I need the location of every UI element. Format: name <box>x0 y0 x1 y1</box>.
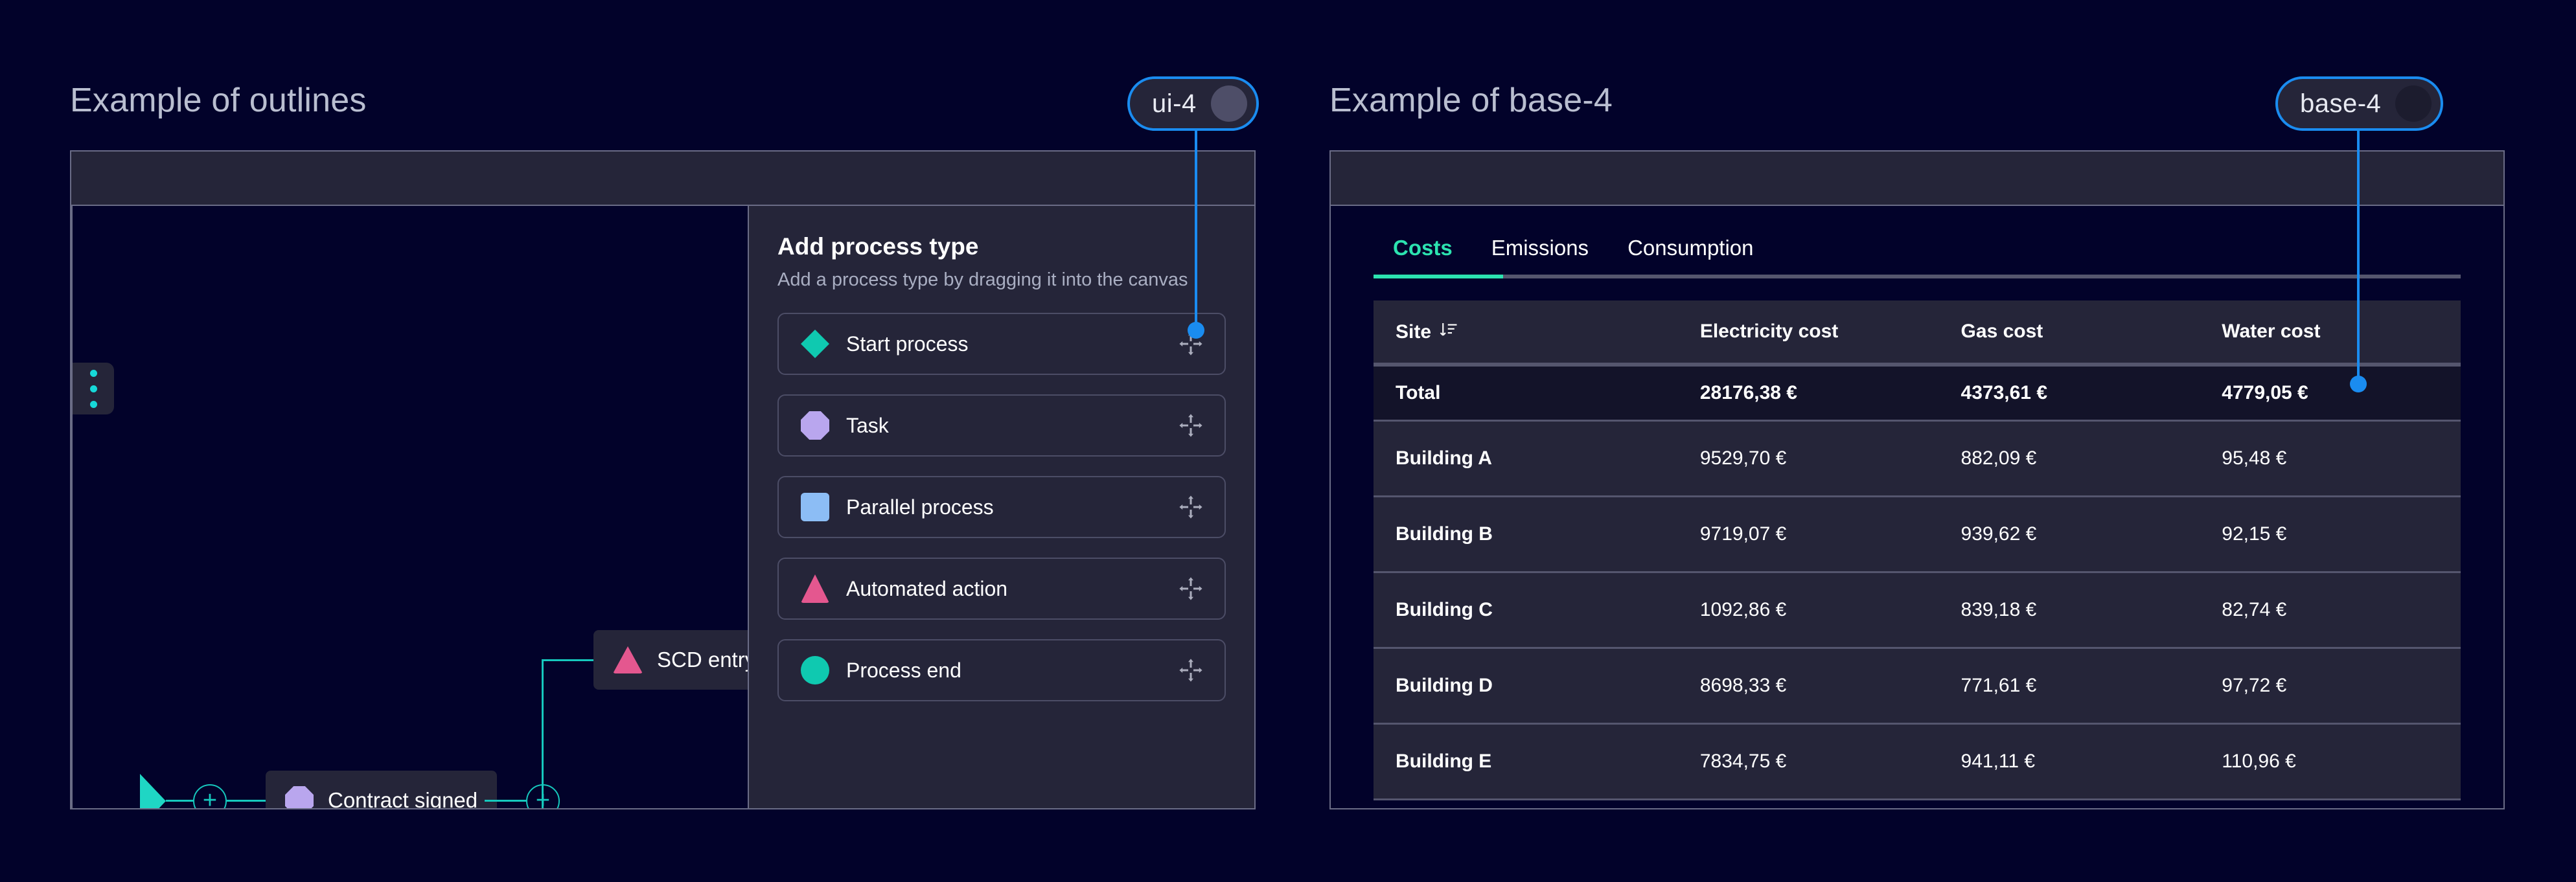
process-type-parallel-process[interactable]: Parallel process <box>777 476 1226 538</box>
octagon-icon <box>801 411 829 440</box>
cell-electricity-cost: 9529,70 € <box>1678 421 1939 497</box>
process-type-label: Start process <box>846 332 1158 356</box>
flow-node-label: Contract signed <box>328 788 477 808</box>
cell-water-cost: 92,15 € <box>2200 497 2461 572</box>
cell-site: Building E <box>1374 724 1678 800</box>
left-section-title: Example of outlines <box>70 81 367 120</box>
total-water-cost: 4779,05 € <box>2200 365 2461 421</box>
base4-panel: Costs Emissions Consumption Site Electri… <box>1329 150 2505 809</box>
triangle-icon <box>613 646 643 673</box>
table-row[interactable]: Building E 7834,75 € 941,11 € 110,96 € <box>1374 724 2461 800</box>
tab-costs[interactable]: Costs <box>1374 236 1472 275</box>
cell-gas-cost: 941,11 € <box>1939 724 2200 800</box>
column-header-site[interactable]: Site <box>1374 300 1678 365</box>
flow-node-label: SCD entry created <box>657 648 748 672</box>
process-type-process-end[interactable]: Process end <box>777 639 1226 701</box>
octagon-icon <box>285 786 314 808</box>
process-type-label: Task <box>846 414 1158 438</box>
annotation-pill-ui4[interactable]: ui-4 <box>1127 76 1259 131</box>
annotation-connector-ui4 <box>1195 130 1197 332</box>
cell-gas-cost: 882,09 € <box>1939 421 2200 497</box>
process-type-start-process[interactable]: Start process <box>777 313 1226 375</box>
table-row[interactable]: Building C 1092,86 € 839,18 € 82,74 € <box>1374 572 2461 648</box>
sidebar-subtitle: Add a process type by dragging it into t… <box>777 269 1226 291</box>
cell-electricity-cost: 1092,86 € <box>1678 572 1939 648</box>
cell-electricity-cost: 9719,07 € <box>1678 497 1939 572</box>
triangle-icon <box>801 574 829 603</box>
annotation-endpoint-base4 <box>2350 376 2367 392</box>
flow-connector <box>166 800 193 802</box>
flow-branch-vertical <box>542 659 544 808</box>
tab-bar: Costs Emissions Consumption <box>1331 206 2503 275</box>
more-vertical-icon[interactable] <box>73 363 114 414</box>
user-avatar-icon <box>2395 85 2432 122</box>
column-header-electricity-cost[interactable]: Electricity cost <box>1678 300 1939 365</box>
process-canvas[interactable]: + Contract signed + <box>71 206 748 808</box>
outlines-panel: + Contract signed + <box>70 150 1256 809</box>
diamond-icon <box>801 330 829 358</box>
total-gas-cost: 4373,61 € <box>1939 365 2200 421</box>
cell-electricity-cost: 7834,75 € <box>1678 724 1939 800</box>
process-type-label: Automated action <box>846 577 1158 601</box>
column-header-water-cost[interactable]: Water cost <box>2200 300 2461 365</box>
table-row[interactable]: Building A 9529,70 € 882,09 € 95,48 € <box>1374 421 2461 497</box>
start-arrow-icon <box>140 774 166 808</box>
move-icon[interactable] <box>1175 410 1206 441</box>
flow-connector <box>227 800 266 802</box>
process-type-automated-action[interactable]: Automated action <box>777 558 1226 620</box>
sidebar-title: Add process type <box>777 233 1226 260</box>
right-panel-body: Costs Emissions Consumption Site Electri… <box>1331 206 2503 808</box>
cell-water-cost: 110,96 € <box>2200 724 2461 800</box>
process-type-label: Process end <box>846 659 1158 683</box>
sort-descending-icon[interactable] <box>1439 320 1458 339</box>
table-row[interactable]: Building B 9719,07 € 939,62 € 92,15 € <box>1374 497 2461 572</box>
table-row-total: Total 28176,38 € 4373,61 € 4779,05 € <box>1374 365 2461 421</box>
left-panel-body: + Contract signed + <box>71 206 1254 808</box>
tab-underline <box>1374 275 2461 278</box>
square-icon <box>801 493 829 521</box>
total-electricity-cost: 28176,38 € <box>1678 365 1939 421</box>
cell-gas-cost: 939,62 € <box>1939 497 2200 572</box>
tab-emissions[interactable]: Emissions <box>1472 236 1608 275</box>
process-type-task[interactable]: Task <box>777 394 1226 457</box>
move-icon[interactable] <box>1175 573 1206 604</box>
annotation-connector-base4 <box>2357 130 2360 389</box>
cell-gas-cost: 839,18 € <box>1939 572 2200 648</box>
flow-connector <box>542 659 593 661</box>
add-process-type-sidebar: Add process type Add a process type by d… <box>748 206 1254 808</box>
costs-table: Site Electricity cost Gas cost Water cos… <box>1374 300 2461 800</box>
cell-gas-cost: 771,61 € <box>1939 648 2200 724</box>
move-icon[interactable] <box>1175 492 1206 523</box>
cell-site: Building D <box>1374 648 1678 724</box>
user-avatar-icon <box>1211 85 1247 122</box>
canvas-left-rail <box>71 206 73 808</box>
right-section-title: Example of base-4 <box>1329 81 1613 120</box>
flow-node-contract-signed[interactable]: Contract signed <box>266 771 497 808</box>
annotation-endpoint-ui4 <box>1188 322 1204 339</box>
tab-consumption[interactable]: Consumption <box>1608 236 1773 275</box>
table-header-row: Site Electricity cost Gas cost Water cos… <box>1374 300 2461 365</box>
cell-water-cost: 97,72 € <box>2200 648 2461 724</box>
table-row[interactable]: Building D 8698,33 € 771,61 € 97,72 € <box>1374 648 2461 724</box>
annotation-label: ui-4 <box>1152 89 1197 119</box>
left-panel-topbar <box>71 152 1254 206</box>
cell-electricity-cost: 8698,33 € <box>1678 648 1939 724</box>
cell-water-cost: 95,48 € <box>2200 421 2461 497</box>
cell-site: Building A <box>1374 421 1678 497</box>
right-panel-topbar <box>1331 152 2503 206</box>
cell-site: Building C <box>1374 572 1678 648</box>
total-label: Total <box>1374 365 1678 421</box>
add-node-button-1[interactable]: + <box>193 784 227 808</box>
column-header-gas-cost[interactable]: Gas cost <box>1939 300 2200 365</box>
flow-node-scd-entry-created[interactable]: SCD entry created <box>593 630 748 690</box>
annotation-pill-base4[interactable]: base-4 <box>2275 76 2443 131</box>
move-icon[interactable] <box>1175 655 1206 686</box>
flow-connector <box>485 800 526 802</box>
process-type-label: Parallel process <box>846 495 1158 519</box>
column-header-label: Site <box>1396 321 1431 343</box>
tab-active-indicator <box>1374 275 1503 278</box>
cell-site: Building B <box>1374 497 1678 572</box>
circle-icon <box>801 656 829 684</box>
screenshot-root: Example of outlines + Contr <box>0 0 2576 882</box>
annotation-label: base-4 <box>2300 89 2381 119</box>
cell-water-cost: 82,74 € <box>2200 572 2461 648</box>
